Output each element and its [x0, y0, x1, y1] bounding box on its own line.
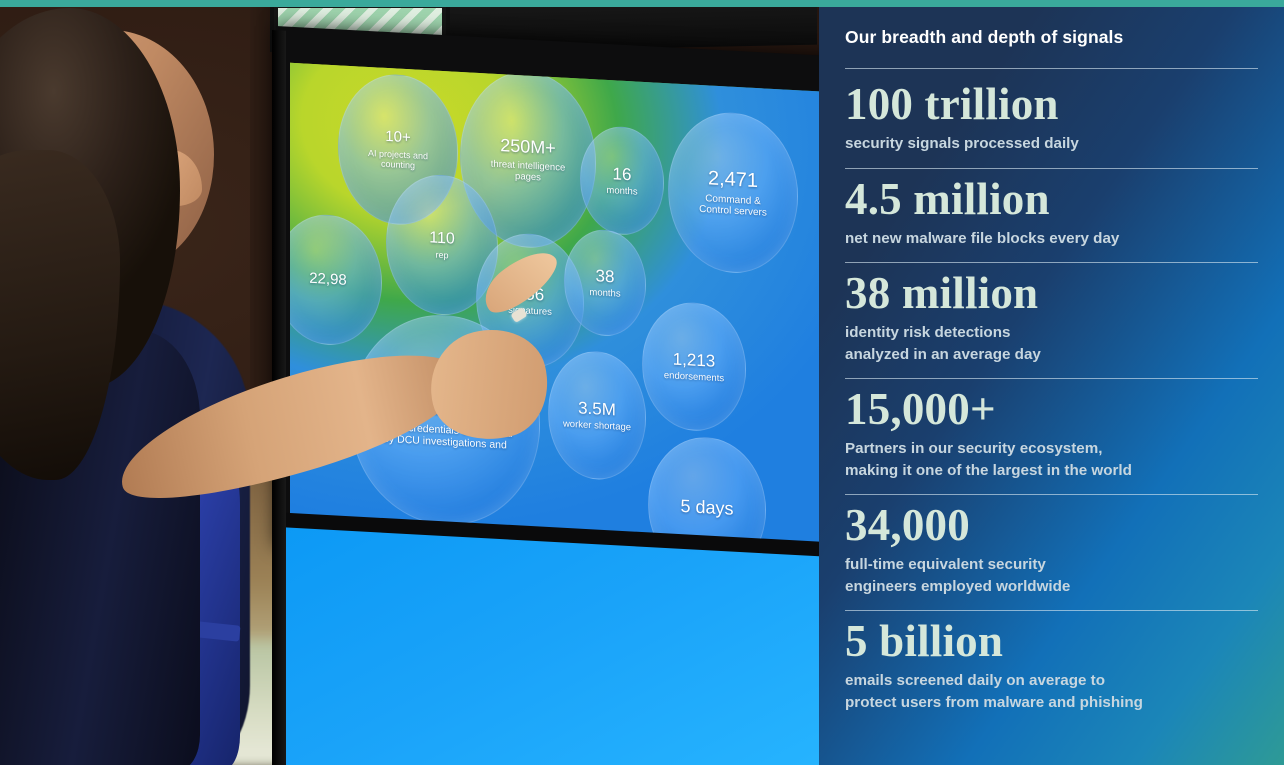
stat-value: 4.5 million [845, 177, 1119, 222]
divider [845, 378, 1258, 379]
touchscreen-bezel: 10+ AI projects and counting 250M+ threa… [276, 26, 819, 576]
bubble-number: 3.5M [578, 398, 616, 419]
stat-item-5: 5 billion emails screened daily on avera… [845, 619, 1143, 714]
stat-item-1: 4.5 million net new malware file blocks … [845, 177, 1119, 250]
screen-bubble[interactable]: 2,471 Command & Control servers [668, 109, 798, 276]
bubble-number: 250M+ [500, 135, 556, 158]
kiosk-lower-panel [278, 527, 819, 765]
stat-description: net new malware file blocks every day [845, 228, 1119, 250]
bubble-number: 22,98 [309, 270, 347, 289]
bubble-label: months [589, 288, 620, 300]
divider [845, 610, 1258, 611]
divider [845, 68, 1258, 69]
bubble-number: 1,213 [673, 349, 716, 370]
stat-value: 15,000+ [845, 387, 1132, 432]
stat-description: full-time equivalent security engineers … [845, 554, 1070, 598]
bubble-number: 16 [613, 164, 632, 184]
screen-bubble[interactable]: 1,213 endorsements [642, 300, 746, 434]
bubble-label: worker shortage [563, 419, 631, 433]
slide-root: 10+ AI projects and counting 250M+ threa… [0, 0, 1284, 765]
touchscreen-screen[interactable]: 10+ AI projects and counting 250M+ threa… [290, 63, 819, 562]
bubble-label: AI projects and counting [368, 148, 428, 171]
stat-item-0: 100 trillion security signals processed … [845, 82, 1079, 155]
stat-value: 5 billion [845, 619, 1143, 664]
stat-item-4: 34,000 full-time equivalent security eng… [845, 503, 1070, 598]
bubble-label: months [606, 186, 637, 198]
bubble-label: threat intelligence pages [491, 160, 565, 185]
stat-description: emails screened daily on average to prot… [845, 670, 1143, 714]
stat-description: security signals processed daily [845, 133, 1079, 155]
stat-description: Partners in our security ecosystem, maki… [845, 438, 1132, 482]
divider [845, 494, 1258, 495]
panel-title: Our breadth and depth of signals [845, 27, 1123, 48]
bubble-number: 10+ [385, 128, 410, 146]
bubble-label: rep [435, 250, 448, 261]
bubble-number: 38 [596, 266, 615, 286]
top-accent-bar [0, 0, 1284, 7]
bubble-number: 2,471 [708, 167, 758, 192]
stat-item-2: 38 million identity risk detections anal… [845, 271, 1041, 366]
bubble-label: endorsements [664, 371, 724, 385]
stat-item-3: 15,000+ Partners in our security ecosyst… [845, 387, 1132, 482]
stat-value: 100 trillion [845, 82, 1079, 127]
bubble-number: 5 days [680, 496, 733, 519]
stat-value: 34,000 [845, 503, 1070, 548]
divider [845, 262, 1258, 263]
hero-photo: 10+ AI projects and counting 250M+ threa… [0, 0, 819, 765]
screen-bubble[interactable]: 16 months [580, 124, 664, 237]
stat-value: 38 million [845, 271, 1041, 316]
screen-bubble[interactable]: 22,98 [290, 212, 382, 348]
screen-bubble[interactable]: 3.5M worker shortage [548, 349, 646, 482]
bubble-number: 110 [429, 229, 455, 248]
bubble-label: Command & Control servers [699, 193, 767, 219]
divider [845, 168, 1258, 169]
stat-description: identity risk detections analyzed in an … [845, 322, 1041, 366]
